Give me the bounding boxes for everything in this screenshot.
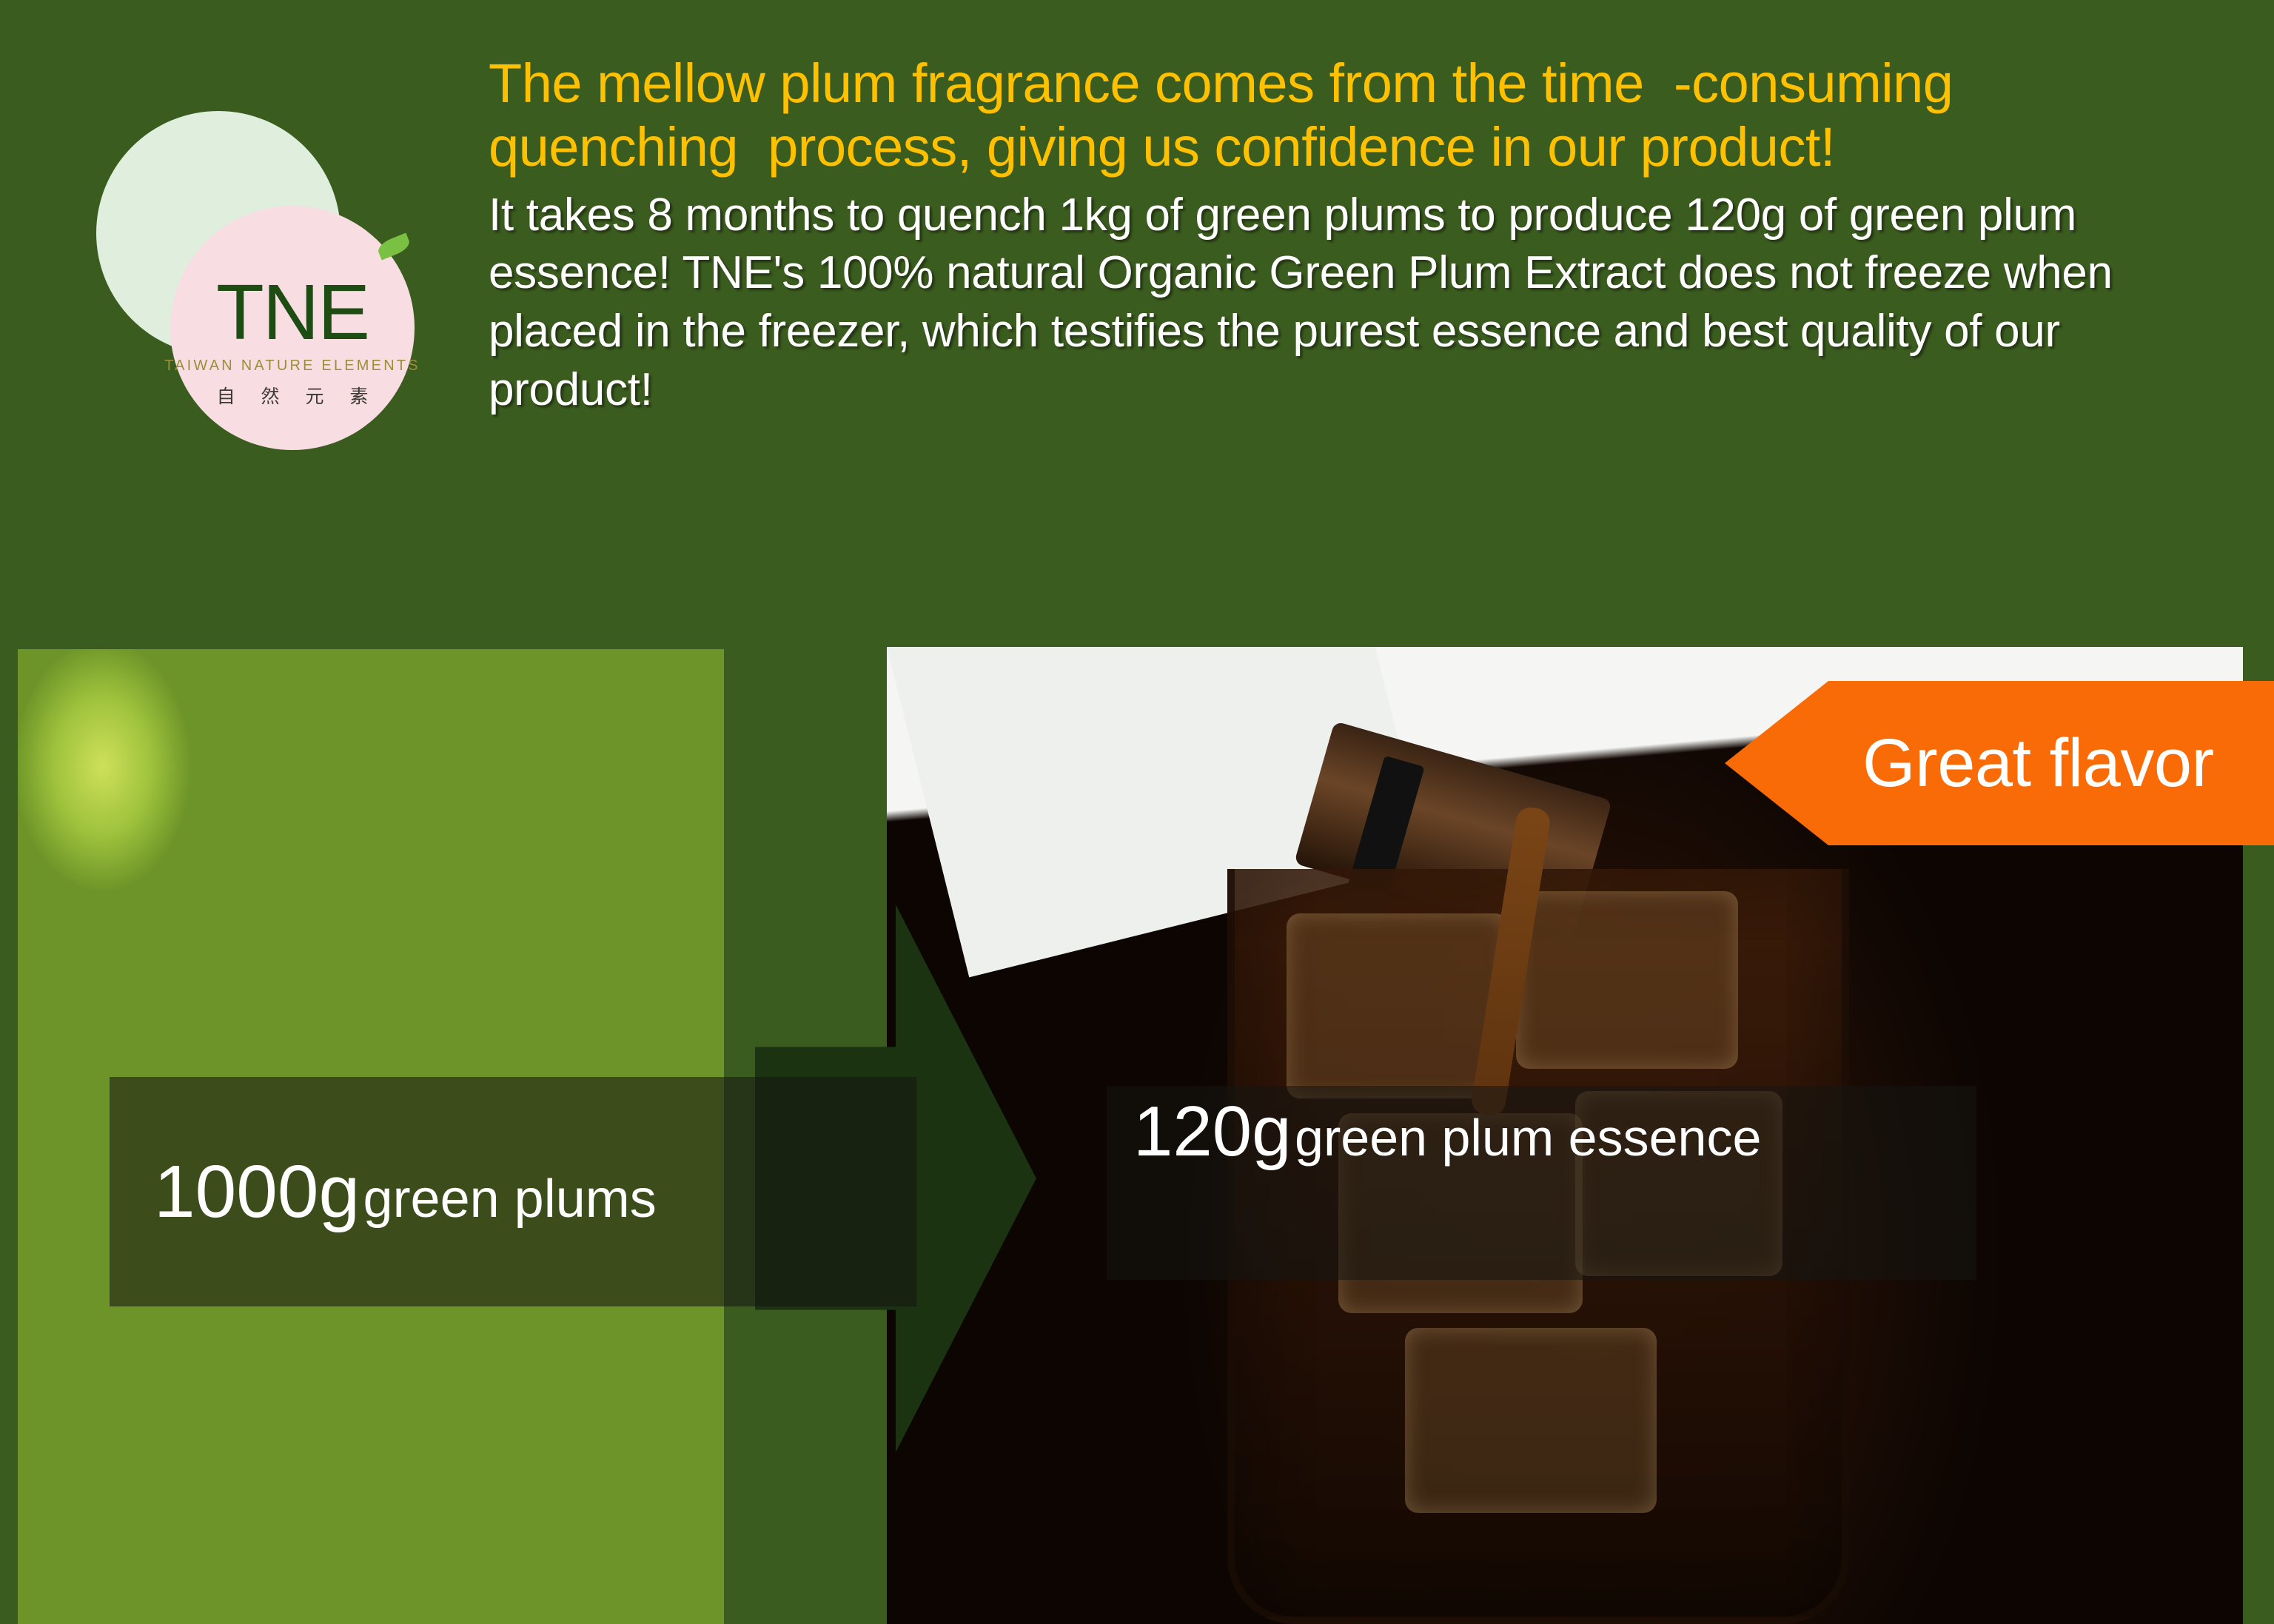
brand-logo: TNE TAIWAN NATURE ELEMENTS 自 然 元 素 <box>96 111 422 452</box>
ice-cube <box>1405 1328 1657 1513</box>
left-caption-label: green plums <box>363 1170 657 1229</box>
logo-wordmark: TNE <box>216 273 369 352</box>
logo-chinese-name: 自 然 元 素 <box>217 382 379 409</box>
ice-cube <box>1287 913 1509 1098</box>
great-flavor-banner: Great flavor <box>1725 681 2274 845</box>
logo-tagline: TAIWAN NATURE ELEMENTS <box>164 358 420 375</box>
page-headline: The mellow plum fragrance comes from the… <box>489 52 2191 179</box>
great-flavor-label: Great flavor <box>1862 725 2214 802</box>
logo-content: TNE TAIWAN NATURE ELEMENTS 自 然 元 素 <box>170 206 415 450</box>
right-caption-overlay: 120g green plum essence <box>1107 1086 1976 1280</box>
right-caption-text: 120g green plum essence <box>1133 1096 1761 1167</box>
ice-cube <box>1516 891 1738 1069</box>
right-caption-amount: 120g <box>1133 1092 1292 1171</box>
left-caption-overlay: 1000g green plums <box>110 1077 916 1306</box>
leaf-icon <box>375 233 412 261</box>
right-caption-label: green plum essence <box>1295 1109 1761 1167</box>
left-caption-amount: 1000g <box>154 1150 360 1233</box>
header-section: TNE TAIWAN NATURE ELEMENTS 自 然 元 素 The m… <box>0 0 2274 649</box>
header-text-block: The mellow plum fragrance comes from the… <box>489 52 2191 420</box>
page-body-text: It takes 8 months to quench 1kg of green… <box>489 187 2191 420</box>
left-caption-text: 1000g green plums <box>154 1155 657 1229</box>
